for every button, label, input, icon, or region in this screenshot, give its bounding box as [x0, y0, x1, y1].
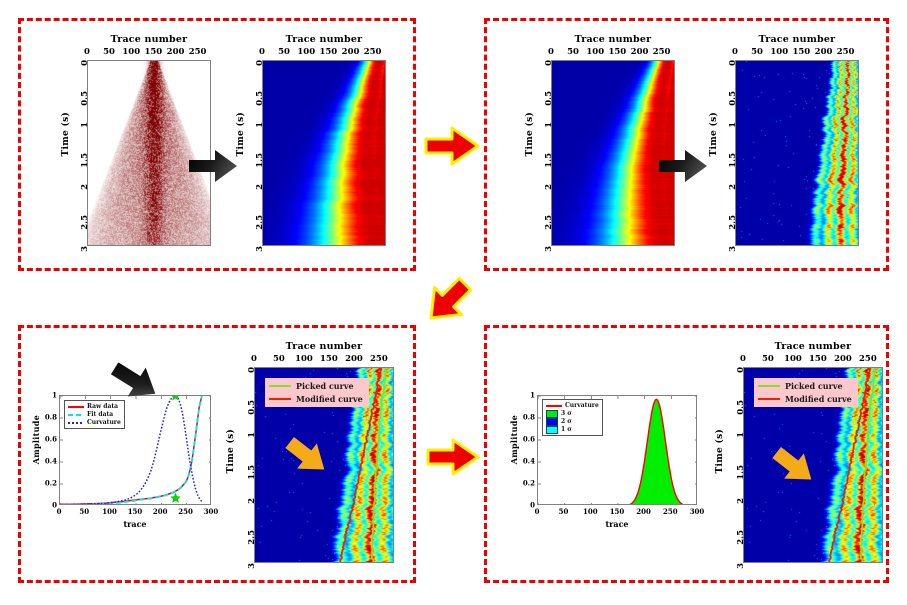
velocity-spectrum-smooth: Trace number 0 50 100 150 200 250 Time (… [525, 34, 680, 250]
final-curve-spectrum: Trace number 0 50 100 150 200 250 Time (… [715, 341, 890, 569]
yellow-arrow-d [770, 446, 818, 486]
x-tick-labels: 0 50 100 150 200 250 [254, 354, 394, 365]
flow-arrow-a-to-b [422, 124, 482, 168]
modified-curve-swatch [269, 398, 291, 401]
x-tick-labels: 0 50 100 150 200 250 [735, 47, 859, 58]
y-tick-labels: 0 0.5 1 1.5 2 2.5 3 [717, 60, 733, 246]
y-tick-labels: 0 0.5 1 1.5 2 2.5 3 [533, 60, 549, 246]
flow-arrow-b-to-c [418, 276, 478, 326]
gaussian-sigma-chart: Amplitude 0 0.2 0.4 0.6 0.8 1 0 50 100 1… [509, 370, 709, 542]
panel-curvature-picking: Amplitude 0 0.2 0.4 0.6 0.8 1 0 50 100 1… [18, 325, 416, 583]
axis-title-trace-number: Trace number [735, 34, 859, 45]
axis-label-trace: trace [59, 519, 211, 529]
axis-title-trace-number: Trace number [551, 34, 675, 45]
x-tick-labels-trace: 0 50 100 150 200 250 300 [59, 507, 211, 518]
sigma1-swatch [546, 426, 558, 434]
picked-curve-swatch [269, 385, 291, 388]
axis-label-amplitude: Amplitude [31, 415, 41, 464]
spectrum-b-right-raster [736, 61, 859, 246]
axis-title-trace-number: Trace number [743, 341, 883, 352]
y-tick-labels: 0 0.5 1 1.5 2 2.5 3 [69, 60, 85, 246]
y-tick-labels-amplitude: 0 0.2 0.4 0.6 0.8 1 [519, 395, 535, 505]
legend-row-1-sigma: 1 σ [546, 426, 599, 433]
x-tick-labels: 0 50 100 150 200 250 [262, 47, 386, 58]
sigma2-swatch [546, 418, 558, 426]
panel-gaussian-sigma-weighting: Amplitude 0 0.2 0.4 0.6 0.8 1 0 50 100 1… [484, 325, 889, 583]
legend-row-picked-curve: Picked curve [269, 381, 363, 391]
legend-label: Picked curve [296, 381, 354, 391]
legend-label: Picked curve [785, 381, 843, 391]
picked-curve-legend: Picked curve Modified curve [265, 378, 369, 407]
legend-row-fit-data: Fit data [68, 411, 121, 418]
picked-curve-swatch [758, 385, 780, 388]
figure-root: Trace number 0 50 100 150 200 250 Time (… [0, 0, 907, 605]
final-curve-plot-area: Picked curve Modified curve [743, 367, 883, 563]
legend-row-curvature: Curvature [68, 419, 121, 426]
legend-row-raw-data: Raw data [68, 403, 121, 410]
axis-label-trace: trace [537, 519, 697, 529]
spectrum-a-plot-area [262, 60, 386, 246]
axis-label-amplitude: Amplitude [509, 415, 519, 464]
legend-row-curvature: Curvature [546, 402, 599, 409]
x-tick-labels-trace: 0 50 100 150 200 250 300 [537, 507, 697, 518]
black-arrow-pointing-peak [109, 360, 161, 402]
legend-label: Curvature [87, 419, 121, 426]
picked-curve-spectrum: Trace number 0 50 100 150 200 250 Time (… [226, 341, 401, 569]
panel-raw-to-spectrum: Trace number 0 50 100 150 200 250 Time (… [18, 18, 416, 271]
fit-data-swatch [68, 414, 84, 416]
curvature-chart-legend: Raw data Fit data Curvature [64, 400, 125, 429]
legend-label: Fit data [87, 411, 113, 418]
picked-curve-plot-area: Picked curve Modified curve [254, 367, 394, 563]
legend-label: 3 σ [561, 410, 572, 417]
legend-row-2-sigma: 2 σ [546, 418, 599, 425]
legend-label: 2 σ [561, 418, 572, 425]
axis-label-time: Time (s) [226, 429, 236, 473]
legend-label: Modified curve [785, 394, 852, 404]
legend-label: 1 σ [561, 426, 572, 433]
legend-row-modified-curve: Modified curve [758, 394, 852, 404]
black-arrow-a [187, 146, 239, 186]
axis-title-trace-number: Trace number [262, 34, 386, 45]
curvature-swatch [68, 422, 84, 424]
sigma3-swatch [546, 410, 558, 418]
yellow-arrow-c [283, 436, 331, 476]
panel-spectrum-to-sharpened: Trace number 0 50 100 150 200 250 Time (… [484, 18, 889, 271]
black-arrow-b [657, 146, 709, 186]
velocity-spectrum-sharpened: Trace number 0 50 100 150 200 250 Time (… [709, 34, 864, 250]
legend-row-3-sigma: 3 σ [546, 410, 599, 417]
gaussian-chart-legend: Curvature 3 σ 2 σ 1 σ [542, 399, 603, 436]
legend-row-picked-curve: Picked curve [758, 381, 852, 391]
final-curve-legend: Picked curve Modified curve [754, 378, 858, 407]
spectrum-a-raster [263, 61, 386, 246]
spectrum-b-right-plot-area [735, 60, 859, 246]
raw-seismic-gather: Trace number 0 50 100 150 200 250 Time (… [61, 34, 211, 250]
axis-label-time: Time (s) [715, 429, 725, 473]
x-tick-labels: 0 50 100 150 200 250 [743, 354, 883, 365]
y-tick-labels: 0 0.5 1 1.5 2 2.5 3 [725, 367, 741, 563]
axis-title-trace-number: Trace number [87, 34, 211, 45]
raw-data-swatch [68, 406, 84, 408]
y-tick-labels: 0 0.5 1 1.5 2 2.5 3 [236, 367, 252, 563]
y-tick-labels: 0 0.5 1 1.5 2 2.5 3 [244, 60, 260, 246]
y-tick-labels-amplitude: 0 0.2 0.4 0.6 0.8 1 [41, 395, 57, 505]
modified-curve-swatch [758, 398, 780, 401]
curvature-swatch [546, 405, 562, 407]
velocity-spectrum-a: Trace number 0 50 100 150 200 250 Time (… [236, 34, 391, 250]
axis-title-trace-number: Trace number [254, 341, 394, 352]
legend-row-modified-curve: Modified curve [269, 394, 363, 404]
legend-label: Raw data [87, 403, 118, 410]
flow-arrow-c-to-d [424, 436, 482, 478]
x-tick-labels: 0 50 100 150 200 250 [87, 47, 211, 58]
legend-label: Curvature [565, 402, 599, 409]
x-tick-labels: 0 50 100 150 200 250 [551, 47, 675, 58]
legend-label: Modified curve [296, 394, 363, 404]
